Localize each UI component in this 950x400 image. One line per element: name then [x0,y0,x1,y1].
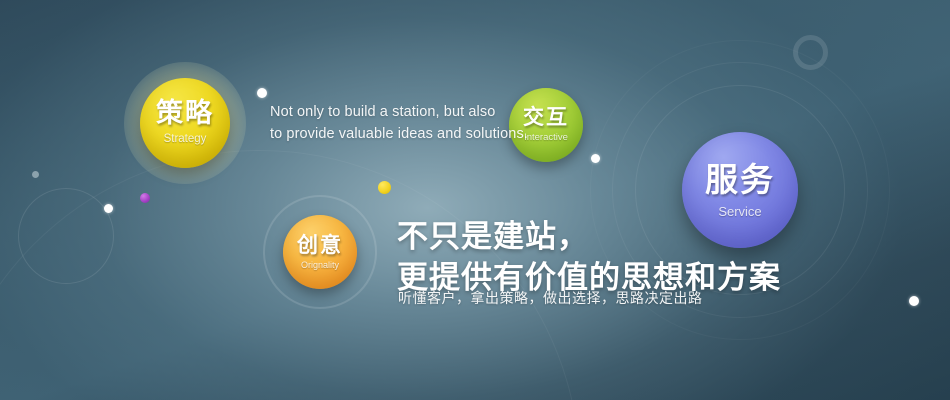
decor-dot-purple [140,193,150,203]
english-tagline-line1: Not only to build a station, but also [270,101,528,123]
english-tagline: Not only to build a station, but also to… [270,101,528,146]
bubble-strategy-en-label: Strategy [164,134,207,146]
bubble-strategy[interactable]: 策略 Strategy [140,78,230,168]
decor-dot-white-mid [591,154,600,163]
bubble-service-cn-label: 服务 [705,163,775,196]
decor-dot-grey-left [32,171,39,178]
bubble-interactive-en-label: Interactive [524,133,568,143]
headline-line1: 不只是建站， [397,217,781,258]
bubble-service-en-label: Service [718,205,761,218]
bubble-originality-cn-label: 创意 [297,235,343,256]
english-tagline-line2: to provide valuable ideas and solutions. [270,123,528,145]
decor-dot-white-right [909,296,919,306]
hero-banner: 策略 Strategy 交互 Interactive 创意 Orignality… [0,0,950,400]
decor-dot-white-top [257,88,267,98]
decor-dot-yellow [378,181,391,194]
bubble-originality-en-label: Orignality [301,261,339,270]
bubble-strategy-cn-label: 策略 [156,100,214,127]
decor-ring-top-right [793,35,828,70]
decor-ring-left [18,188,114,284]
headline: 不只是建站， 更提供有价值的思想和方案 [397,217,781,299]
bubble-originality[interactable]: 创意 Orignality [283,215,357,289]
subcopy: 听懂客户，拿出策略，做出选择，思路决定出路 [398,288,703,308]
bubble-interactive-cn-label: 交互 [523,107,569,128]
decor-dot-white-left [104,204,113,213]
